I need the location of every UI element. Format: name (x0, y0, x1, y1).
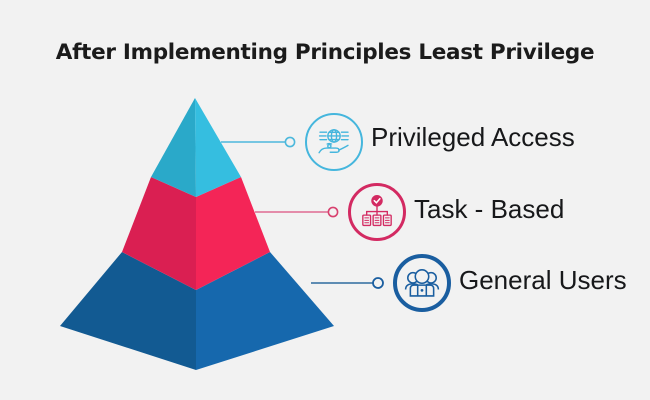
connector-task-based (255, 207, 338, 216)
tier-label-privileged-access[interactable]: Privileged Access (371, 124, 575, 150)
user-group-glyph (397, 258, 447, 308)
connector-privileged-access (221, 137, 295, 146)
page-title: After Implementing Principles Least Priv… (0, 40, 650, 65)
connector-general-users (311, 278, 383, 288)
pyramid-tier-privileged-access[interactable] (151, 98, 241, 197)
connector-dot-privileged-access (285, 137, 294, 146)
user-group-icon[interactable] (393, 254, 451, 312)
globe-in-hand-icon[interactable] (305, 113, 363, 171)
tier-label-general-users[interactable]: General Users (459, 267, 627, 293)
connector-dot-task-based (328, 207, 337, 216)
task-hierarchy-icon[interactable] (348, 183, 406, 241)
globe-in-hand-glyph (307, 115, 361, 169)
connector-dot-general-users (373, 278, 383, 288)
task-hierarchy-glyph (351, 186, 403, 238)
tier-label-task-based[interactable]: Task - Based (414, 196, 564, 222)
